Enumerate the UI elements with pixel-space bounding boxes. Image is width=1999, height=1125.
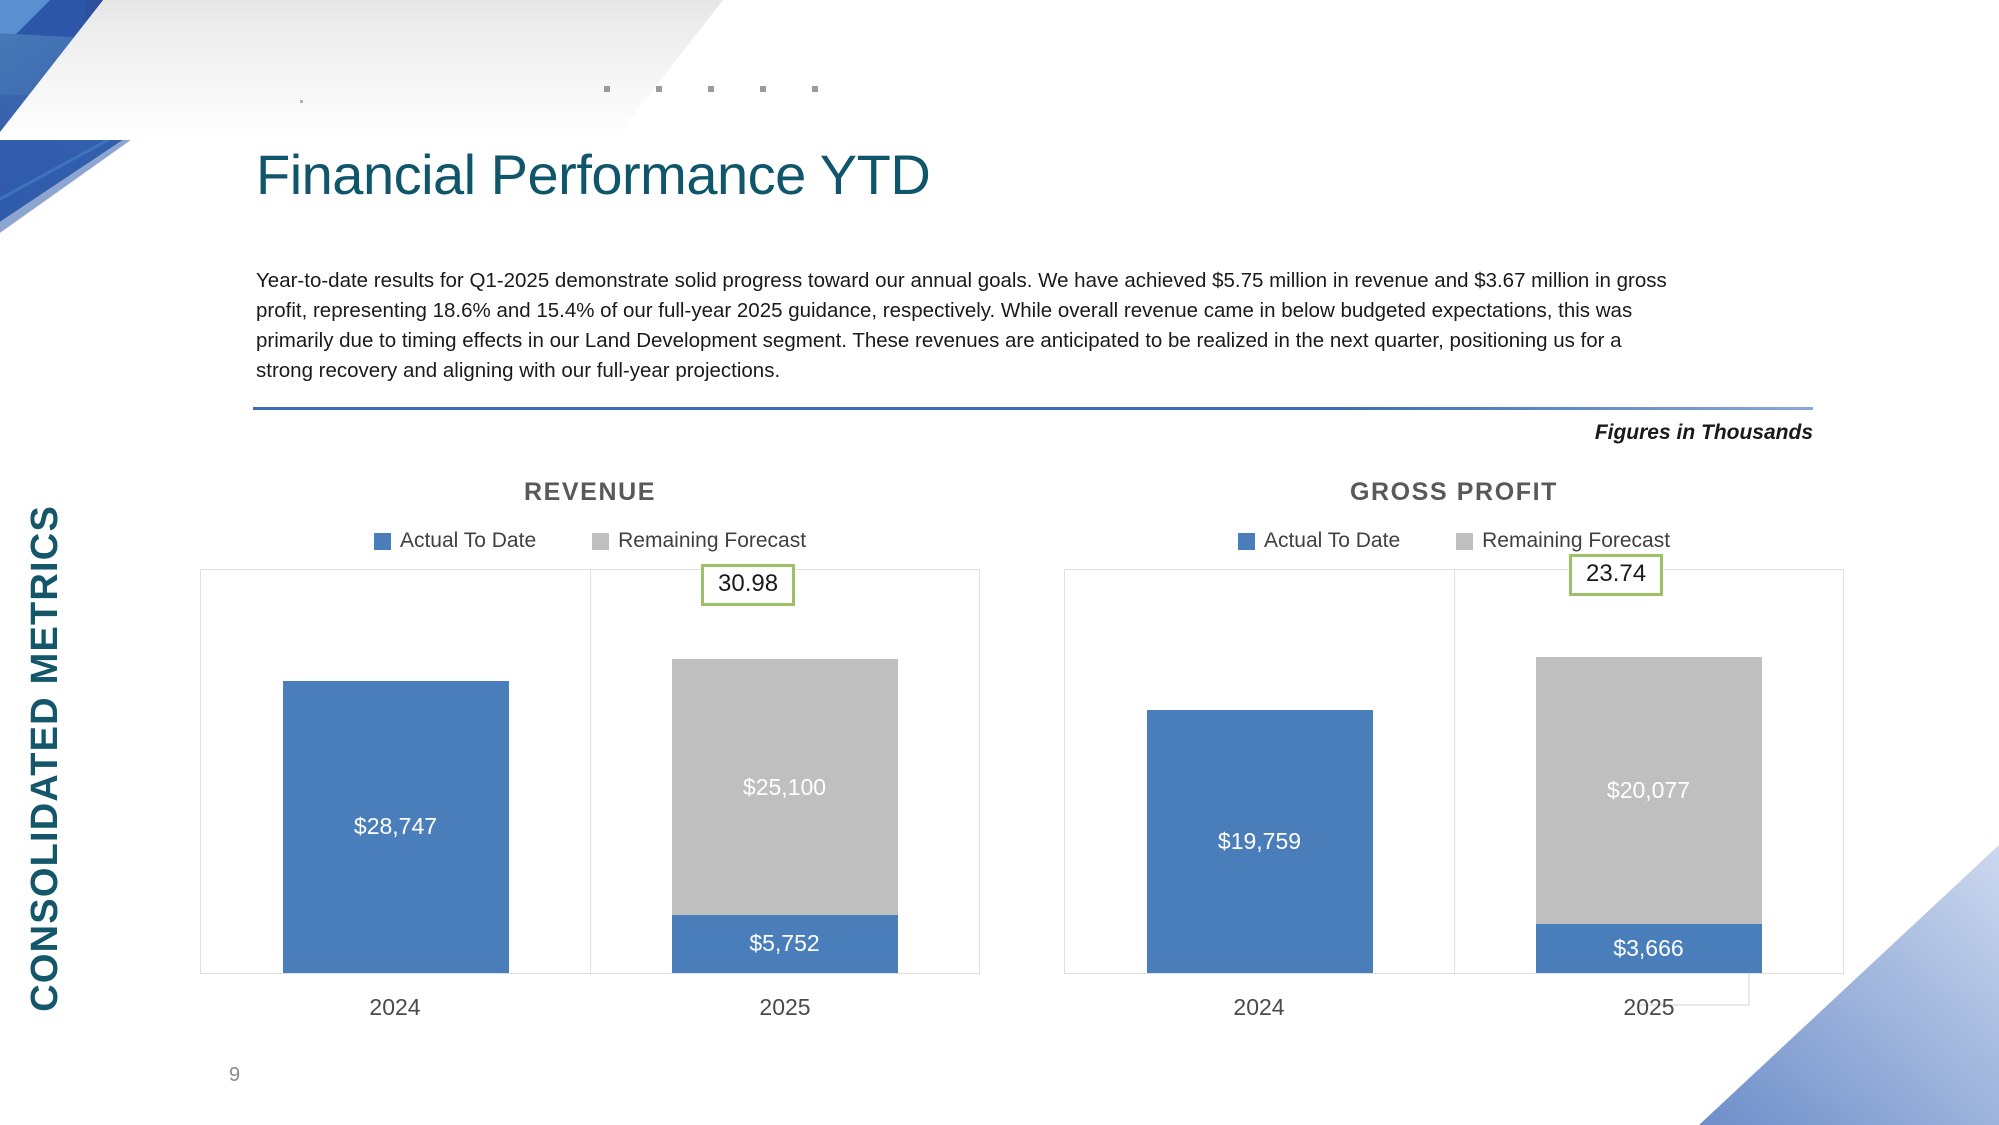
page-number: 9 [229,1064,240,1087]
plot-area: $19,759 $20,077 $3,666 23.74 [1064,569,1844,974]
micro-dot-decoration [300,100,303,103]
x-axis-labels: 2024 2025 [1064,974,1844,1032]
figures-note: Figures in Thousands [0,421,1813,445]
bar-segment-actual[interactable]: $19,759 [1147,710,1373,973]
dots-decoration [604,86,818,92]
x-tick-label: 2024 [200,994,590,1021]
bar-segment-actual[interactable]: $3,666 [1536,924,1762,973]
bar-group-2024[interactable]: $28,747 [201,570,590,973]
bar-segment-actual[interactable]: $5,752 [672,915,898,973]
bar-group-2024[interactable]: $19,759 [1065,570,1454,973]
chart-revenue: REVENUE Actual To Date Remaining Forecas… [200,478,980,1048]
slide-side-label: CONSOLIDATED METRICS [24,505,67,1012]
x-tick-label: 2025 [590,994,980,1021]
legend-item-forecast[interactable]: Remaining Forecast [1456,529,1670,553]
bar-group-2025[interactable]: $20,077 $3,666 [1454,570,1843,973]
bar-segment-forecast[interactable]: $20,077 [1536,657,1762,925]
legend-label: Remaining Forecast [618,529,806,553]
body-paragraph: Year-to-date results for Q1-2025 demonst… [256,266,1673,386]
bar-segment-actual[interactable]: $28,747 [283,681,509,973]
legend-swatch-icon [1456,533,1473,550]
decorative-band-top [0,0,770,140]
legend-item-actual[interactable]: Actual To Date [1238,529,1400,553]
legend-item-forecast[interactable]: Remaining Forecast [592,529,806,553]
plot-area: $28,747 $25,100 $5,752 30.98 [200,569,980,974]
x-tick-label: 2024 [1064,994,1454,1021]
legend-label: Remaining Forecast [1482,529,1670,553]
chart-gross-profit: GROSS PROFIT Actual To Date Remaining Fo… [1064,478,1844,1048]
chart-legend: Actual To Date Remaining Forecast [1064,529,1844,553]
dot-icon [812,86,818,92]
legend-label: Actual To Date [400,529,536,553]
legend-swatch-icon [592,533,609,550]
chart-title: REVENUE [200,478,980,507]
legend-swatch-icon [1238,533,1255,550]
section-divider [253,407,1813,410]
callout-total: 30.98 [701,564,795,606]
page-title: Financial Performance YTD [256,142,930,207]
chart-legend: Actual To Date Remaining Forecast [200,529,980,553]
bar-group-2025[interactable]: $25,100 $5,752 [590,570,979,973]
legend-swatch-icon [374,533,391,550]
legend-item-actual[interactable]: Actual To Date [374,529,536,553]
legend-label: Actual To Date [1264,529,1400,553]
x-axis-labels: 2024 2025 [200,974,980,1032]
x-tick-label: 2025 [1454,994,1844,1021]
dot-icon [708,86,714,92]
dot-icon [604,86,610,92]
dot-icon [760,86,766,92]
dot-icon [656,86,662,92]
callout-total: 23.74 [1569,554,1663,596]
chart-title: GROSS PROFIT [1064,478,1844,507]
bar-segment-forecast[interactable]: $25,100 [672,659,898,914]
